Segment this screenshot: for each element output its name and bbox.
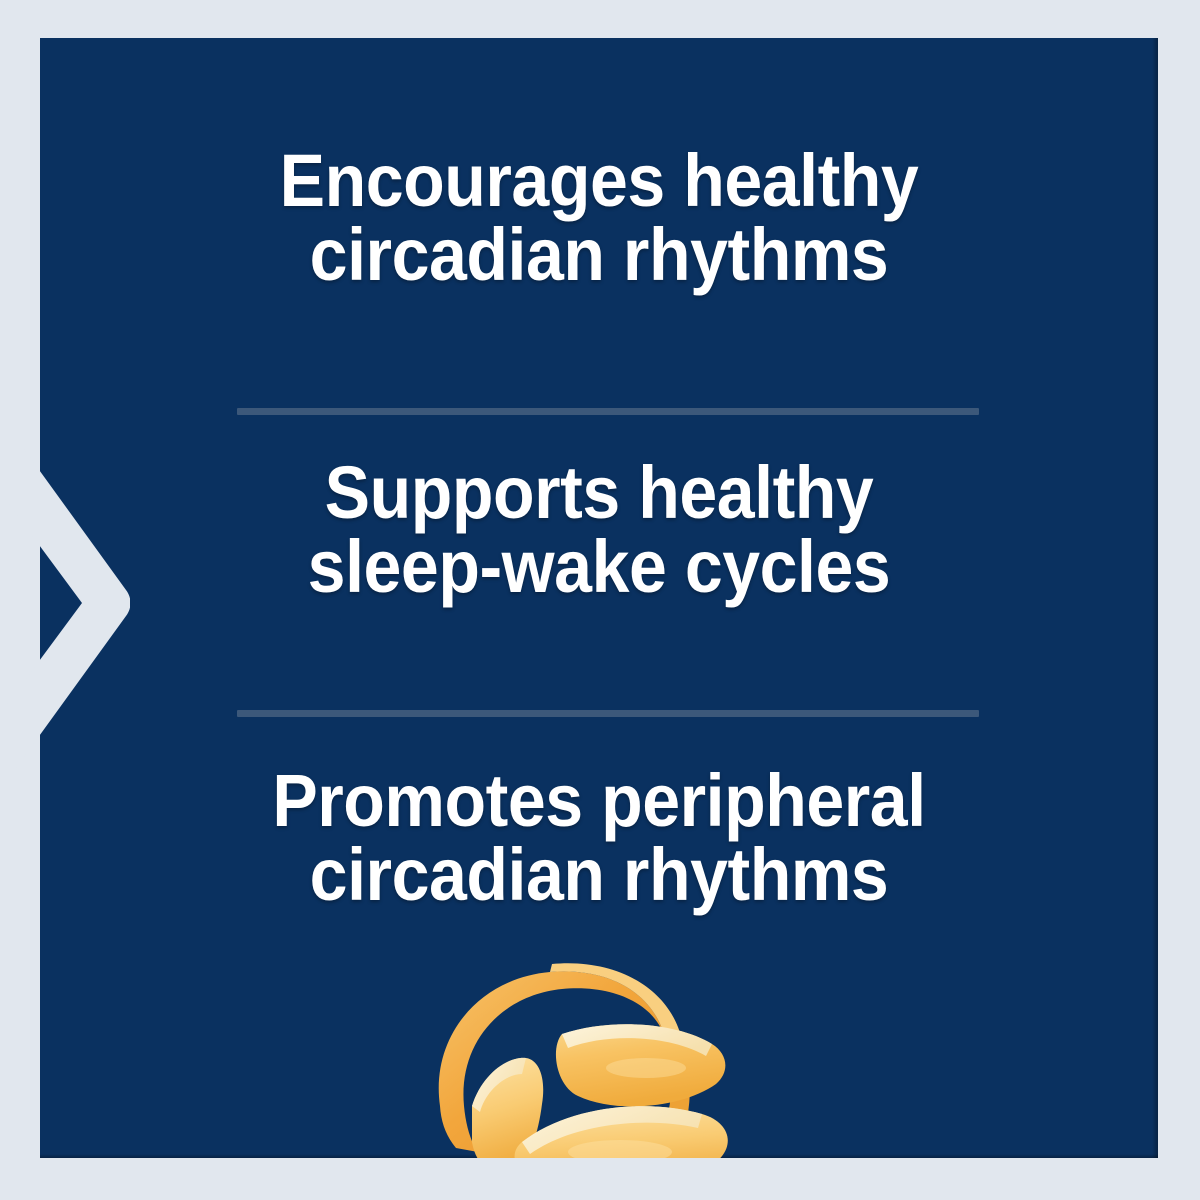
benefit-divider-2 [237,710,979,717]
benefits-card [40,38,1158,1158]
orange-fruit-image [410,956,760,1158]
benefit-divider-1 [237,408,979,415]
card-right-shadow [1152,38,1158,1158]
graphic-canvas: Encourages healthy circadian rhythms Sup… [0,0,1200,1200]
